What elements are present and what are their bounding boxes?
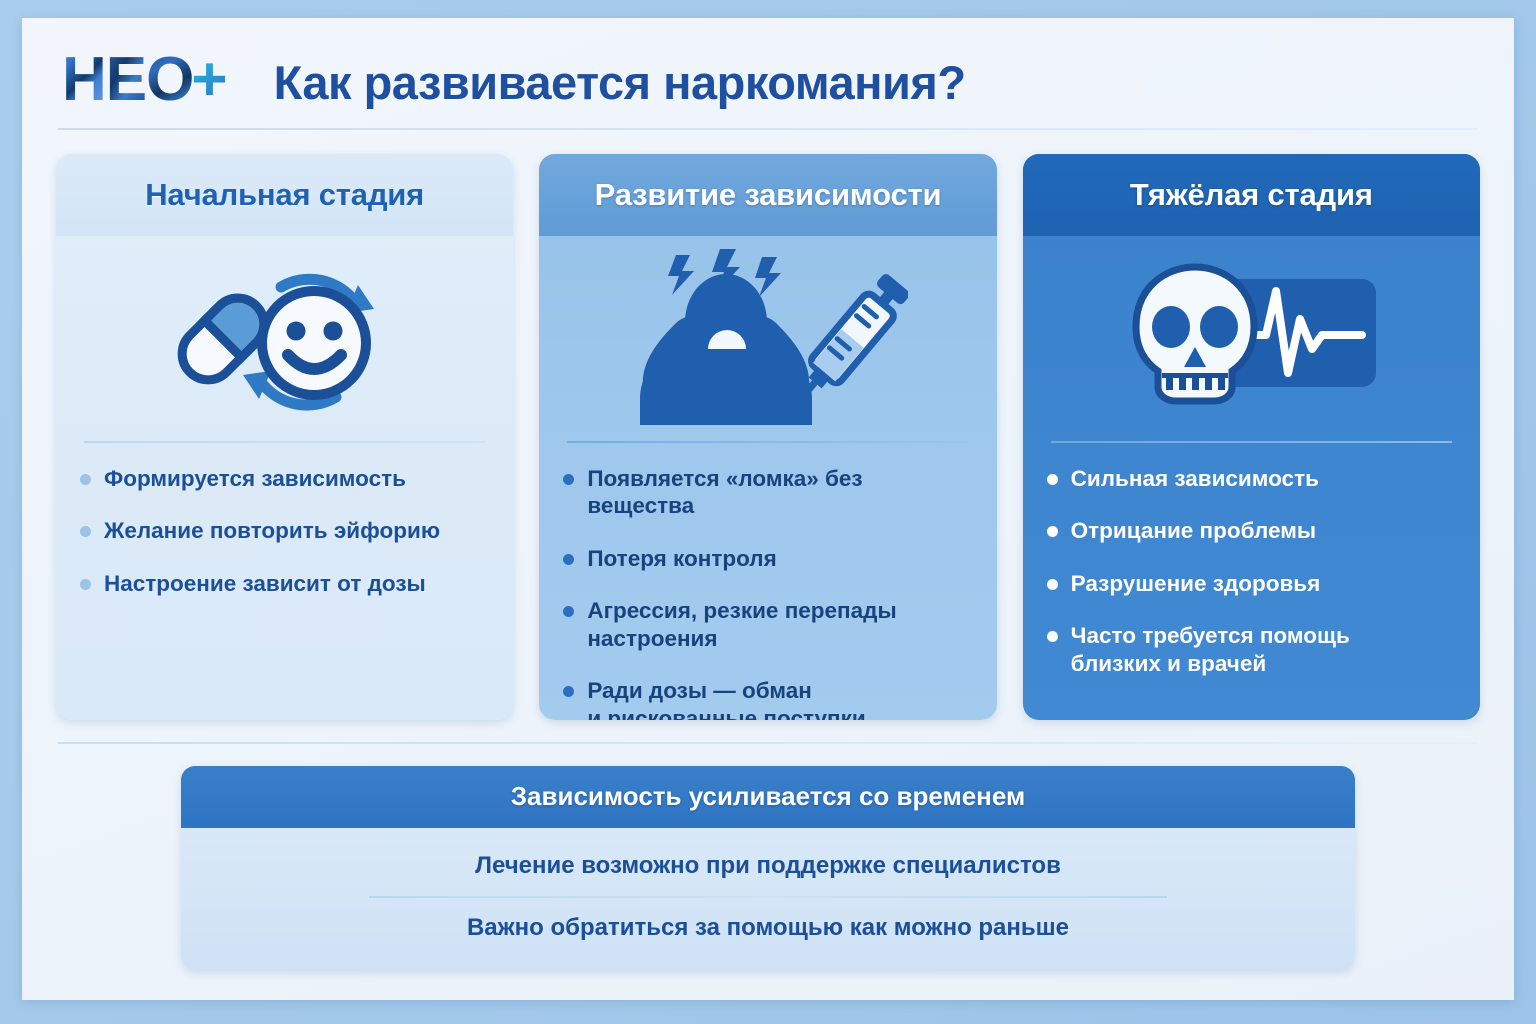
- stage-panel-initial: Начальная стадия: [56, 154, 513, 720]
- bullet-text: Разрушение здоровья: [1071, 570, 1321, 597]
- bullet-text: Сильная зависимость: [1071, 465, 1319, 492]
- bullet-dot-icon: [563, 606, 574, 617]
- bullet-text: Потеря контроля: [587, 545, 776, 572]
- skull-and-heartbeat-monitor-icon: [1047, 236, 1456, 441]
- stage-panel-initial-title: Начальная стадия: [56, 154, 513, 236]
- bullet-text: Формируется зависимость: [104, 465, 406, 492]
- logo-letter-e: Е: [106, 49, 146, 111]
- summary-row: Важно обратиться за помощью как можно ра…: [181, 898, 1356, 958]
- page-title: Как развивается наркомания?: [274, 55, 966, 110]
- stage-panel-initial-divider: [84, 441, 485, 443]
- bullet-dot-icon: [1047, 474, 1058, 485]
- logo-letter-o: О: [146, 49, 193, 111]
- bullet-text: Часто требуется помощь близких и врачей: [1071, 622, 1350, 677]
- stage-panel-severe: Тяжёлая стадия: [1023, 154, 1480, 720]
- bullet-text: Появляется «ломка» без вещества: [587, 465, 972, 520]
- summary-row: Лечение возможно при поддержке специалис…: [181, 836, 1356, 896]
- bullet-text: Желание повторить эйфорию: [104, 517, 440, 544]
- bullet-dot-icon: [563, 474, 574, 485]
- bullet-dot-icon: [1047, 631, 1058, 642]
- bullet-dot-icon: [563, 686, 574, 697]
- pill-and-smiley-cycle-icon: [80, 236, 489, 441]
- stage-panel-development-bullets: Появляется «ломка» без вещества Потеря к…: [563, 465, 972, 720]
- summary-headline: Зависимость усиливается со временем: [181, 766, 1356, 828]
- stage-panel-severe-body: Сильная зависимость Отрицание проблемы Р…: [1023, 236, 1480, 720]
- footer-divider: [58, 742, 1478, 744]
- header-divider: [58, 128, 1478, 130]
- list-item: Отрицание проблемы: [1047, 517, 1456, 544]
- bullet-dot-icon: [80, 579, 91, 590]
- stage-panel-development-body: Появляется «ломка» без вещества Потеря к…: [539, 236, 996, 720]
- brand-logo: Н Е О +: [62, 53, 228, 111]
- bullet-dot-icon: [563, 554, 574, 565]
- stage-panel-development: Развитие зависимости: [539, 154, 996, 720]
- list-item: Желание повторить эйфорию: [80, 517, 489, 544]
- list-item: Ради дозы — обман и рискованные поступки: [563, 677, 972, 720]
- bullet-text: Отрицание проблемы: [1071, 517, 1316, 544]
- list-item: Агрессия, резкие перепады настроения: [563, 597, 972, 652]
- infographic-card: Н Е О + Как развивается наркомания? Нача…: [22, 18, 1514, 1000]
- stages-row: Начальная стадия: [56, 154, 1480, 720]
- list-item: Настроение зависит от дозы: [80, 570, 489, 597]
- stage-panel-initial-body: Формируется зависимость Желание повторит…: [56, 236, 513, 720]
- stage-panel-development-title: Развитие зависимости: [539, 154, 996, 236]
- stage-panel-severe-title: Тяжёлая стадия: [1023, 154, 1480, 236]
- bullet-text: Ради дозы — обман и рискованные поступки: [587, 677, 865, 720]
- logo-letter-n: Н: [62, 49, 106, 111]
- bullet-text: Агрессия, резкие перепады настроения: [587, 597, 972, 652]
- list-item: Формируется зависимость: [80, 465, 489, 492]
- summary-box: Зависимость усиливается со временем Лече…: [181, 766, 1356, 970]
- list-item: Разрушение здоровья: [1047, 570, 1456, 597]
- stage-panel-severe-divider: [1051, 441, 1452, 443]
- page-header: Н Е О + Как развивается наркомания?: [56, 36, 1480, 128]
- bullet-dot-icon: [1047, 526, 1058, 537]
- stage-panel-initial-bullets: Формируется зависимость Желание повторит…: [80, 465, 489, 597]
- bullet-text: Настроение зависит от дозы: [104, 570, 426, 597]
- bullet-dot-icon: [80, 526, 91, 537]
- stage-panel-development-divider: [567, 441, 968, 443]
- list-item: Потеря контроля: [563, 545, 972, 572]
- list-item: Сильная зависимость: [1047, 465, 1456, 492]
- distressed-person-and-syringe-icon: [563, 236, 972, 441]
- stage-panel-severe-bullets: Сильная зависимость Отрицание проблемы Р…: [1047, 465, 1456, 677]
- list-item: Часто требуется помощь близких и врачей: [1047, 622, 1456, 677]
- summary-body: Лечение возможно при поддержке специалис…: [181, 828, 1356, 970]
- logo-plus-icon: +: [191, 49, 227, 111]
- footer-area: Зависимость усиливается со временем Лече…: [56, 720, 1480, 1000]
- list-item: Появляется «ломка» без вещества: [563, 465, 972, 520]
- bullet-dot-icon: [80, 474, 91, 485]
- bullet-dot-icon: [1047, 579, 1058, 590]
